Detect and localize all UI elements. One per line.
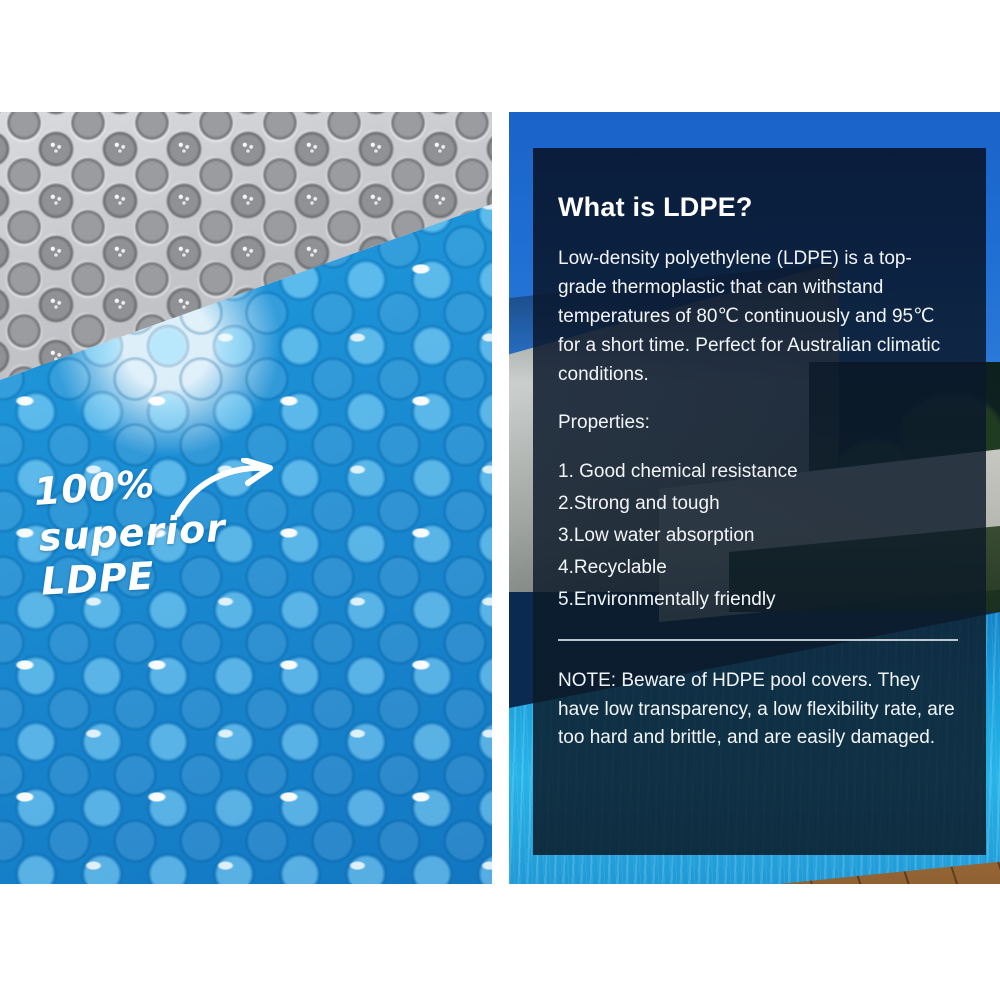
list-item: 3.Low water absorption [558,522,958,551]
product-infographic: 100% superior LDPE What is LDPE? Low-den… [0,0,1000,1000]
info-card: What is LDPE? Low-density polyethylene (… [533,148,986,855]
properties-list: 1. Good chemical resistance 2.Strong and… [558,458,958,614]
pool-cover-product-photo: 100% superior LDPE [0,112,492,884]
note-text: NOTE: Beware of HDPE pool covers. They h… [558,667,958,754]
card-body: Low-density polyethylene (LDPE) is a top… [558,245,958,753]
list-item: 2.Strong and tough [558,490,958,519]
ldpe-information-panel: What is LDPE? Low-density polyethylene (… [509,112,1000,884]
list-item: 5.Environmentally friendly [558,586,958,615]
section-divider [558,639,958,641]
page-title: What is LDPE? [558,192,986,223]
list-item: 1. Good chemical resistance [558,458,958,487]
properties-label: Properties: [558,409,958,438]
intro-paragraph: Low-density polyethylene (LDPE) is a top… [558,245,958,389]
list-item: 4.Recyclable [558,554,958,583]
